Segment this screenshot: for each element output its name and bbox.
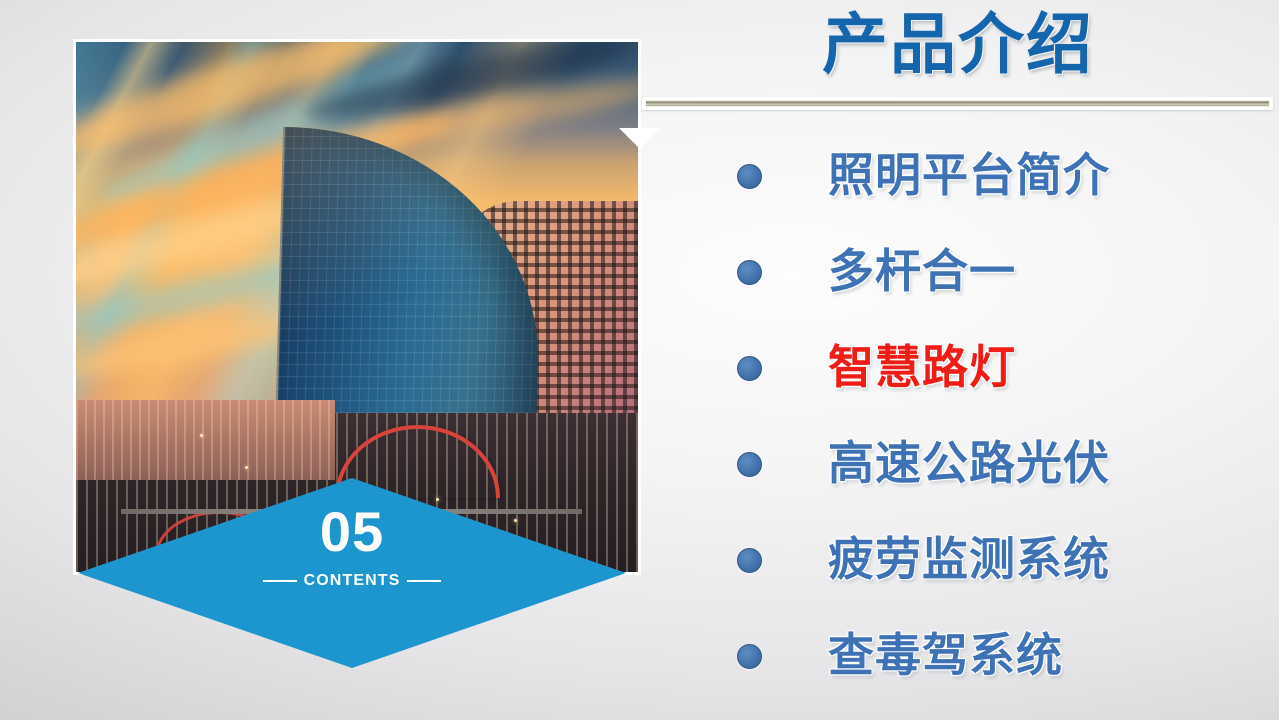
title-divider — [642, 97, 1273, 110]
bullet-dot-icon — [737, 452, 762, 477]
agenda-item-label: 照明平台简介 — [828, 151, 1110, 201]
contents-label: CONTENTS — [304, 572, 401, 590]
window-light — [436, 498, 439, 501]
agenda-item-3[interactable]: 智慧路灯 — [700, 326, 1275, 410]
window-light — [245, 466, 248, 469]
agenda-item-label: 查毒驾系统 — [828, 631, 1063, 681]
window-light — [200, 434, 203, 437]
agenda-item-label: 多杆合一 — [828, 247, 1016, 297]
agenda-item-6[interactable]: 查毒驾系统 — [700, 614, 1275, 698]
agenda-item-2[interactable]: 多杆合一 — [700, 230, 1275, 314]
agenda-item-4[interactable]: 高速公路光伏 — [700, 422, 1275, 506]
agenda-item-label: 高速公路光伏 — [828, 439, 1110, 489]
bullet-dot-icon — [737, 644, 762, 669]
rule-left-icon — [263, 580, 297, 582]
rule-right-icon — [407, 580, 441, 582]
bullet-dot-icon — [737, 260, 762, 285]
page-title: 产品介绍 — [642, 6, 1274, 84]
agenda-list: 照明平台简介 多杆合一 智慧路灯 高速公路光伏 疲劳监测系统 查毒驾系统 — [700, 134, 1275, 698]
divider-bar-icon — [645, 100, 1270, 107]
agenda-item-label: 疲劳监测系统 — [828, 535, 1110, 585]
agenda-item-1[interactable]: 照明平台简介 — [700, 134, 1275, 218]
caret-down-icon — [619, 128, 661, 149]
agenda-item-label: 智慧路灯 — [828, 343, 1016, 393]
contents-label-group: CONTENTS — [78, 572, 626, 590]
agenda-item-5[interactable]: 疲劳监测系统 — [700, 518, 1275, 602]
bullet-dot-icon — [737, 356, 762, 381]
bullet-dot-icon — [737, 548, 762, 573]
bullet-dot-icon — [737, 164, 762, 189]
presentation-slide: 05 CONTENTS 产品介绍 照明平台简介 多杆合一 智慧路灯 高速公路光伏 — [0, 0, 1279, 720]
